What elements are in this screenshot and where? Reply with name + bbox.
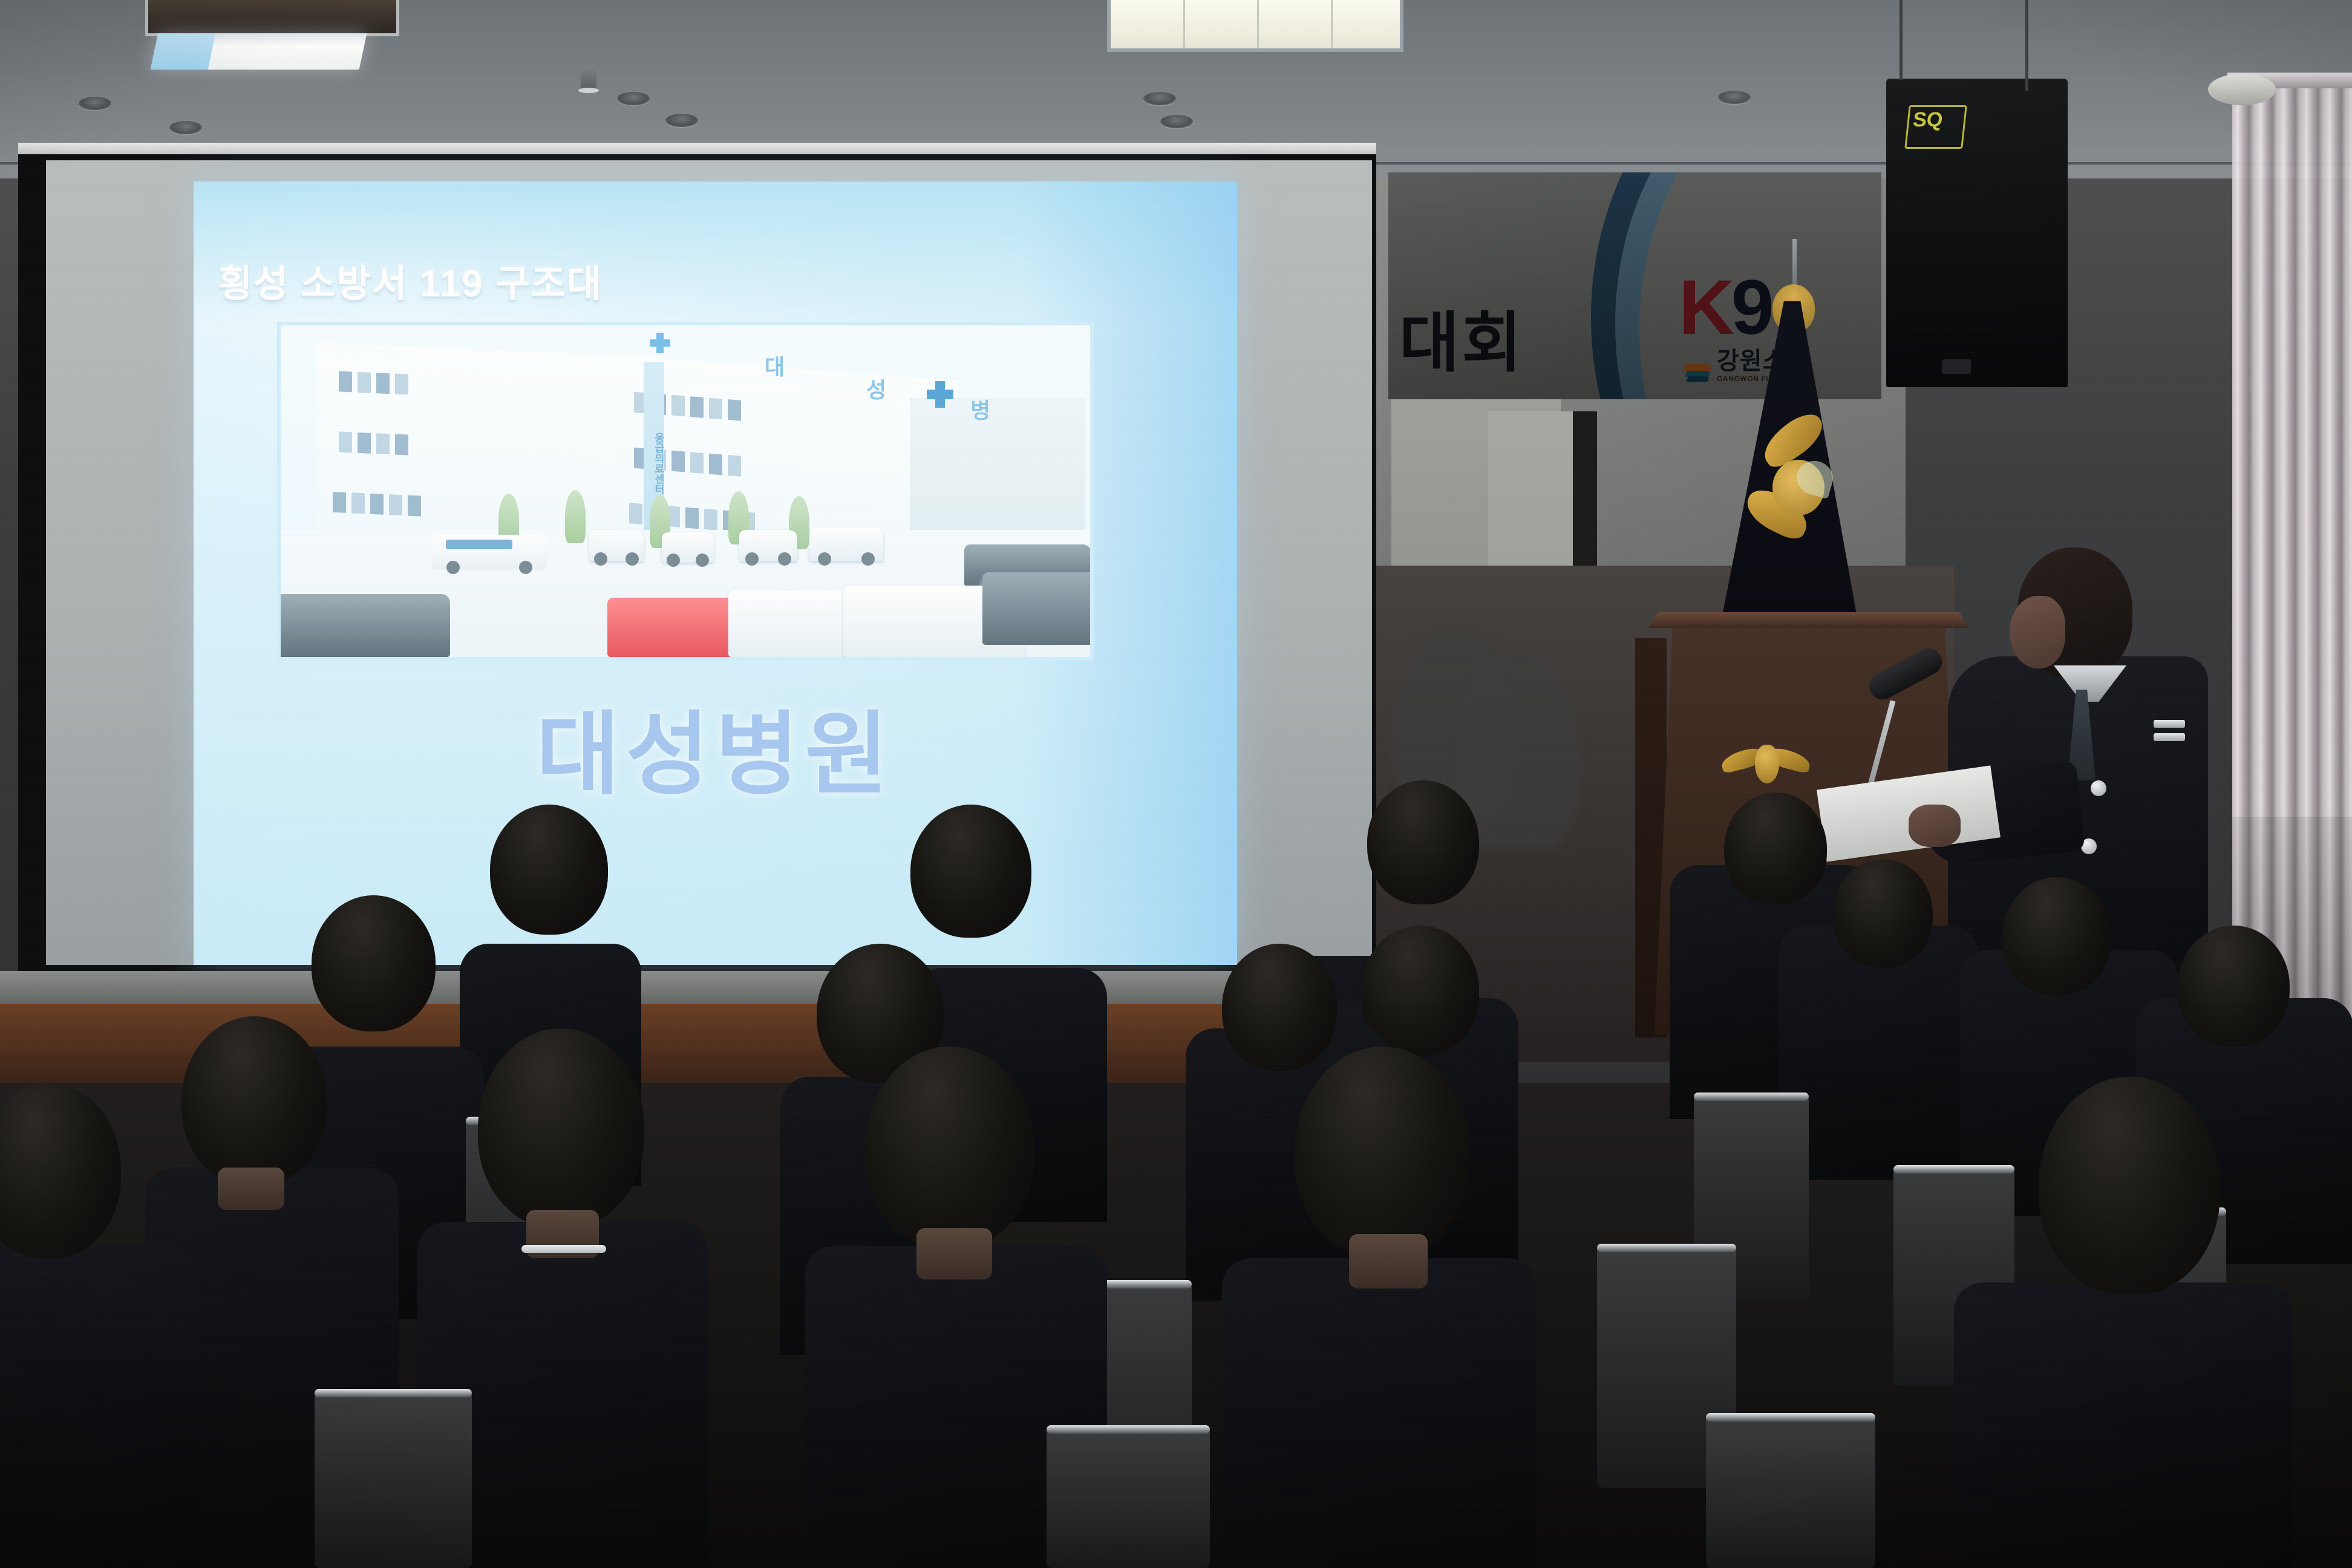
speaker-brand-badge: SQ [1904,105,1967,149]
k9-logo-number: 9 [1731,264,1770,351]
screenshot-root: 횡성 소방서 119 구조대 대 성 병 응급의료센터 지역응급의료기관 [0,0,2352,1568]
audience-neck [916,1228,992,1279]
slide-photo-hospital: 대 성 병 응급의료센터 지역응급의료기관 [277,322,1094,661]
audience-head [490,805,608,935]
chair-chrome-rail [1706,1413,1875,1422]
chair[interactable] [1047,1428,1210,1568]
ambulance-vehicle [432,535,547,570]
audience-head [2178,926,2290,1047]
chair-chrome-rail [315,1389,472,1397]
banner-headline: 대회 [1399,290,1524,385]
audience-member [1222,1258,1537,1568]
building-sign-char-3: 병 [970,393,990,425]
fluorescent-ceiling-light [1107,0,1403,52]
audience-head [1724,792,1827,904]
parked-car [589,530,644,561]
audience-head [1295,1047,1470,1258]
presenter-uniform-badge [2091,780,2106,796]
building-sign-char-2: 성 [866,373,886,404]
audience-head [1222,944,1337,1071]
sprinkler-head [581,65,596,90]
slide-header-title: 횡성 소방서 119 구조대 [218,253,603,307]
chair[interactable] [315,1391,472,1568]
speaker-hanger-cable [2025,0,2028,91]
ceiling-sensor-icon [2208,74,2276,105]
hospital-parking-lot [281,530,1090,657]
audience-head [910,805,1031,938]
parked-car-foreground [277,594,450,657]
downlight-icon [617,92,650,105]
medical-cross-icon-large [927,381,953,408]
medical-cross-icon [650,333,670,353]
parked-dark-van [982,572,1094,645]
parked-car [662,532,714,563]
building-sign-char-1: 대 [765,350,785,381]
audience-head [2002,877,2111,995]
downlight-icon [1160,115,1193,128]
presenter-face [2010,596,2065,668]
audience-head [865,1047,1034,1249]
audience-head [2039,1077,2220,1295]
audience-member [0,1246,200,1568]
chair[interactable] [1706,1416,1875,1568]
presenter-rank-insignia [2154,720,2185,728]
audience-shirt-collar [521,1245,606,1253]
slide-hospital-name: 대성병원 [194,681,1237,812]
podium-top-surface [1648,612,1969,628]
gangwon-swoosh-icon [1685,364,1713,382]
downlight-icon [169,121,202,134]
audience-head [1833,859,1933,968]
audience-neck [1349,1234,1428,1289]
downlight-icon [1143,92,1176,105]
chair-chrome-rail [1597,1244,1736,1252]
ceiling-loudspeaker: SQ [1886,79,2068,387]
audience-member [1954,1282,2293,1568]
downlight-icon [665,114,698,127]
presenter-hand [1909,805,1961,847]
chair-chrome-rail [1047,1425,1210,1434]
k9-logo: K9 [1679,269,1771,347]
chair-chrome-rail [1694,1093,1809,1101]
projector-light-spill [151,33,216,70]
audience-neck [218,1168,284,1210]
parked-car [739,530,797,561]
audience-head [478,1028,644,1228]
k9-logo-letter: K [1679,264,1731,351]
flag-eagle-emblem [1741,423,1850,563]
downlight-icon [1718,91,1751,104]
audience-head [181,1016,327,1186]
audience-head [312,895,436,1031]
open-ceiling-access-panel [151,33,367,70]
speaker-hanger-cable [1900,0,1903,80]
ceiling-hatch-opening [145,0,399,36]
parked-car [809,528,883,561]
projected-slide: 횡성 소방서 119 구조대 대 성 병 응급의료센터 지역응급의료기관 [194,181,1237,965]
speaker-port-icon [1942,359,1971,374]
gold-eagle-emblem [1721,741,1812,793]
downlight-icon [79,97,111,110]
audience-head [1367,780,1479,904]
presenter-rank-insignia [2154,733,2185,741]
chair-chrome-rail [1893,1165,2014,1174]
stage-riser [0,971,1391,1007]
